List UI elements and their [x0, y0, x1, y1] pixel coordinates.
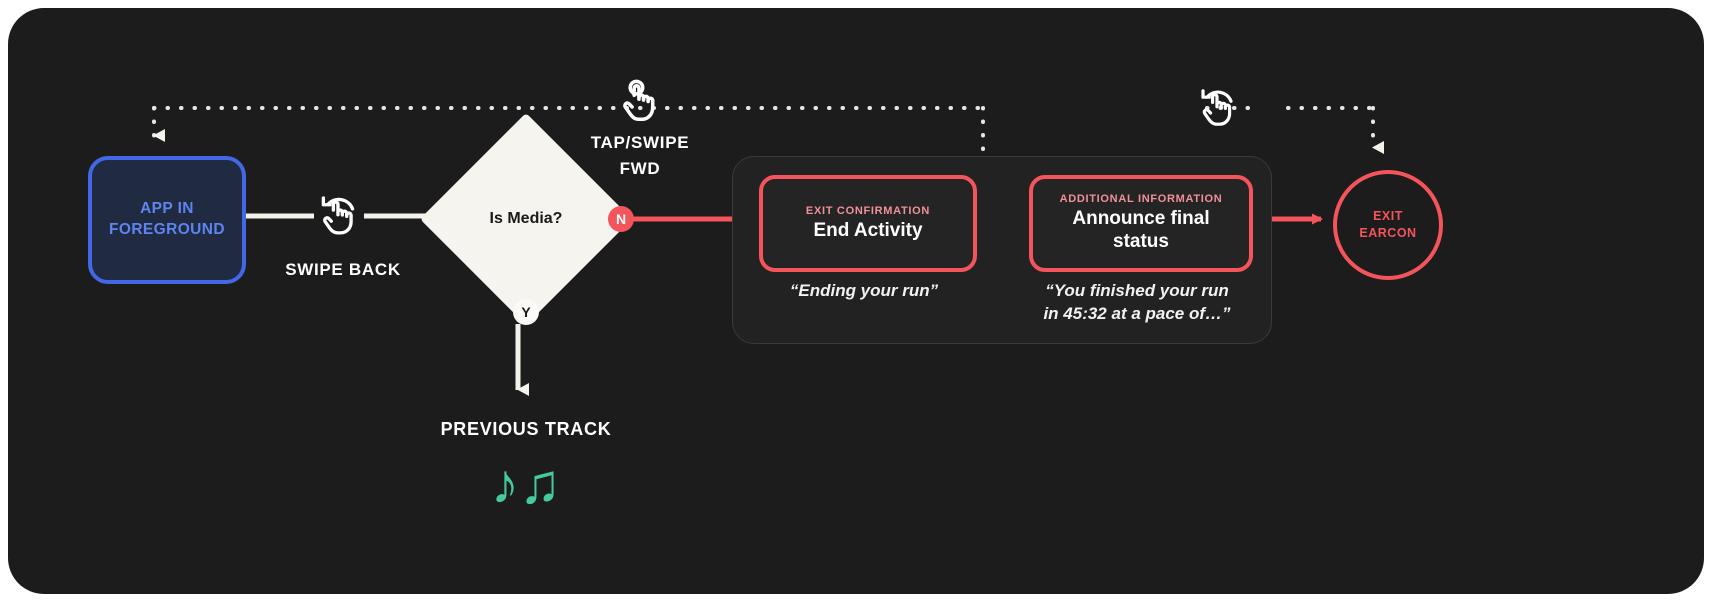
exit-earcon-label: EXIT EARCON [1359, 208, 1416, 242]
quote-2-line2: in 45:32 at a pace of…” [1043, 304, 1230, 323]
app-fg-line2: FOREGROUND [109, 221, 225, 238]
label-previous-track: PREVIOUS TRACK [426, 419, 626, 440]
label-swipe-back: SWIPE BACK [253, 260, 433, 280]
card-1-title: End Activity [813, 220, 922, 243]
music-notes-icon: ♪♫ [426, 456, 626, 512]
quote-additional-information: “You finished your run in 45:32 at a pac… [1020, 280, 1254, 326]
card-2-title-line2: status [1113, 231, 1169, 252]
app-fg-line1: APP IN [140, 200, 194, 217]
card-2-title: Announce final status [1072, 208, 1209, 254]
swipe-back-gesture-icon-right [1194, 84, 1242, 132]
tap-swipe-line1: TAP/SWIPE [591, 133, 690, 152]
earcon-line2: EARCON [1359, 226, 1416, 240]
card-additional-information[interactable]: ADDITIONAL INFORMATION Announce final st… [1029, 175, 1253, 272]
label-tap-swipe-fwd: TAP/SWIPE FWD [550, 130, 730, 181]
node-app-in-foreground[interactable]: APP IN FOREGROUND [88, 156, 246, 284]
card-1-kicker: EXIT CONFIRMATION [806, 205, 930, 217]
swipe-back-gesture-icon [314, 191, 364, 241]
node-exit-earcon[interactable]: EXIT EARCON [1333, 170, 1443, 280]
tap-swipe-line2: FWD [620, 159, 661, 178]
quote-exit-confirmation: “Ending your run” [759, 280, 969, 303]
earcon-line1: EXIT [1373, 209, 1403, 223]
card-exit-confirmation[interactable]: EXIT CONFIRMATION End Activity [759, 175, 977, 272]
tap-gesture-icon [615, 78, 665, 128]
is-media-label: Is Media? [490, 210, 563, 228]
badge-yes: Y [513, 299, 539, 325]
card-2-title-line1: Announce final [1072, 208, 1209, 229]
app-in-foreground-label: APP IN FOREGROUND [109, 199, 225, 241]
diagram-canvas: APP IN FOREGROUND SWIPE BACK Is Media? N… [8, 8, 1704, 594]
quote-2-line1: “You finished your run [1045, 281, 1229, 300]
badge-no: N [608, 206, 634, 232]
card-2-kicker: ADDITIONAL INFORMATION [1060, 193, 1223, 205]
